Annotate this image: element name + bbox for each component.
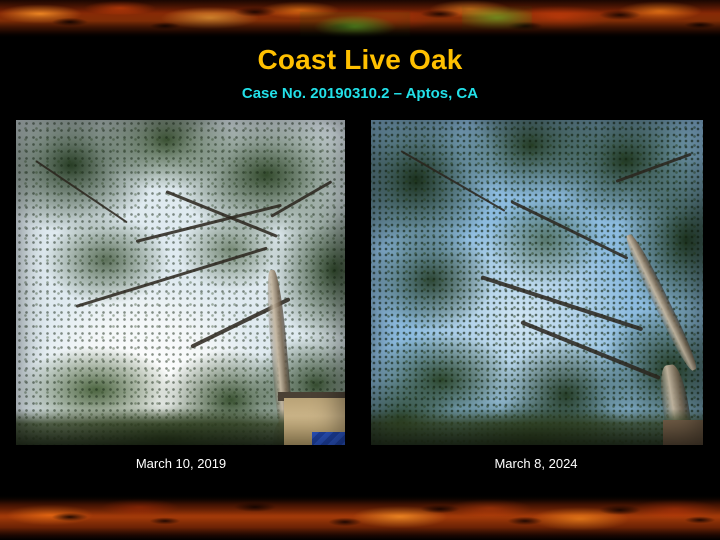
page-title: Coast Live Oak — [0, 44, 720, 76]
photo-vignette — [16, 120, 345, 445]
photo-after — [371, 120, 703, 445]
photo-vignette — [371, 120, 703, 445]
photo-caption-before: March 10, 2019 — [16, 456, 346, 471]
photo-before — [16, 120, 345, 445]
slide: Coast Live Oak Case No. 20190310.2 – Apt… — [0, 0, 720, 540]
page-subtitle: Case No. 20190310.2 – Aptos, CA — [0, 85, 720, 102]
decorative-leaf-border-top — [0, 0, 720, 38]
decorative-leaf-border-bottom — [0, 495, 720, 540]
border-fade — [0, 0, 720, 38]
photo-caption-after: March 8, 2024 — [371, 456, 701, 471]
border-fade — [0, 495, 720, 540]
